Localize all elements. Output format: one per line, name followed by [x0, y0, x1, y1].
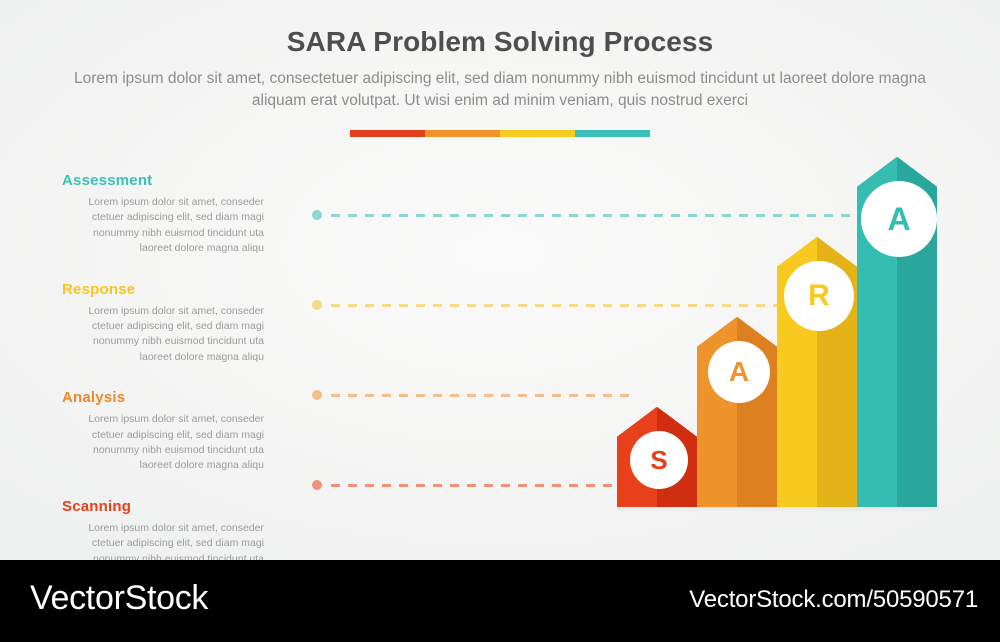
infographic-canvas: SARA Problem Solving Process Lorem ipsum…	[0, 0, 1000, 642]
badge-letter-a-analysis: A	[708, 341, 770, 403]
color-divider	[350, 130, 650, 137]
badge-letter-r-text: R	[808, 279, 830, 313]
page-title: SARA Problem Solving Process	[0, 26, 1000, 58]
footer-bar: VectorStock VectorStock.com/50590571	[0, 560, 1000, 642]
badge-letter-a-analysis-text: A	[729, 356, 749, 388]
connector-dash-scanning	[331, 484, 631, 487]
chart-bar-analysis[interactable]: A	[697, 317, 777, 507]
connector-dot-assessment	[312, 210, 322, 220]
legend-item-scanning-label: Scanning	[62, 498, 272, 515]
chart-bar-scanning[interactable]: S	[617, 407, 697, 507]
legend-item-analysis[interactable]: Analysis Lorem ipsum dolor sit amet, con…	[62, 389, 272, 474]
chart-bar-response[interactable]: R	[777, 237, 857, 507]
badge-letter-r: R	[784, 261, 854, 331]
divider-segment-orange	[425, 130, 500, 137]
legend-item-response-body: Lorem ipsum dolor sit amet, conseder cte…	[60, 304, 264, 366]
brand-url: VectorStock.com/50590571	[689, 586, 978, 614]
brand-logo: VectorStock	[30, 579, 208, 618]
connector-scanning	[312, 480, 632, 490]
legend-item-response[interactable]: Response Lorem ipsum dolor sit amet, con…	[62, 281, 272, 366]
legend-item-assessment-body: Lorem ipsum dolor sit amet, conseder cte…	[60, 195, 264, 257]
legend-item-assessment-label: Assessment	[62, 172, 272, 189]
badge-letter-a-assessment: A	[861, 181, 937, 257]
legend-item-analysis-label: Analysis	[62, 389, 272, 406]
badge-letter-s: S	[630, 431, 688, 489]
arrow-bar-chart: S A R	[600, 160, 960, 540]
connector-dot-response	[312, 300, 322, 310]
connector-dot-analysis	[312, 390, 322, 400]
chart-baseline	[617, 507, 939, 513]
badge-letter-s-text: S	[650, 445, 667, 476]
divider-segment-teal	[575, 130, 650, 137]
artboard: SARA Problem Solving Process Lorem ipsum…	[0, 0, 1000, 560]
divider-segment-yellow	[500, 130, 575, 137]
chart-bar-assessment[interactable]: A	[857, 157, 937, 507]
legend-item-assessment[interactable]: Assessment Lorem ipsum dolor sit amet, c…	[62, 172, 272, 257]
page-subtitle: Lorem ipsum dolor sit amet, consectetuer…	[70, 68, 930, 112]
legend-sidebar: Assessment Lorem ipsum dolor sit amet, c…	[62, 172, 272, 583]
legend-item-response-label: Response	[62, 281, 272, 298]
divider-segment-red	[350, 130, 425, 137]
connector-dot-scanning	[312, 480, 322, 490]
connector-dash-analysis	[331, 394, 631, 397]
legend-item-analysis-body: Lorem ipsum dolor sit amet, conseder cte…	[60, 412, 264, 474]
connector-analysis	[312, 390, 632, 400]
badge-letter-a-assessment-text: A	[887, 201, 910, 238]
